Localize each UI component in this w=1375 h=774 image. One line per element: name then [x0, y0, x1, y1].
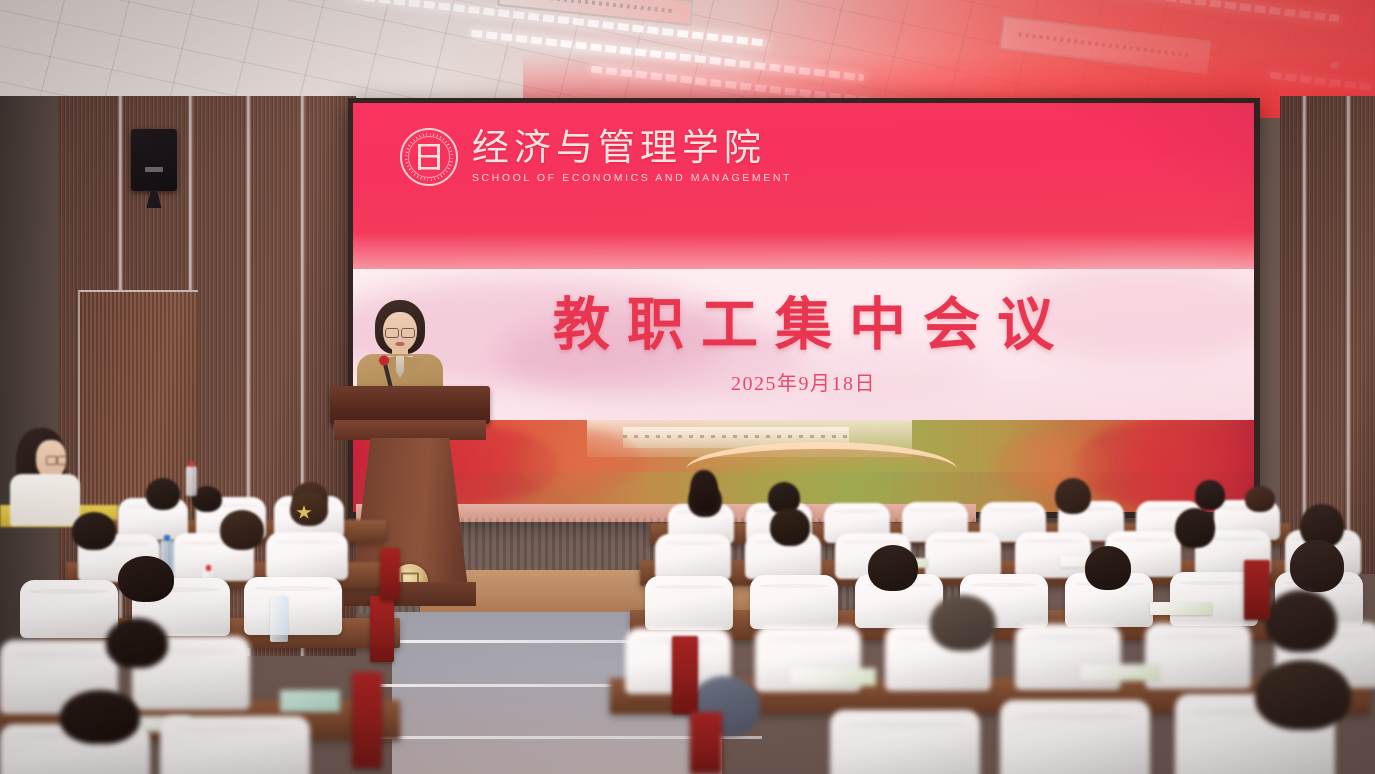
chair-seat: [925, 532, 1001, 578]
desk-document: [790, 668, 876, 686]
podium-top: [330, 386, 490, 424]
screen-main-title: 教职工集中会议: [353, 279, 1254, 361]
campus-tree: [993, 433, 1110, 494]
attendee-head: [72, 512, 116, 550]
attendee-head: [1255, 660, 1351, 730]
school-name-chinese: 经济与管理学院: [472, 130, 792, 167]
chair-seat: [1015, 532, 1091, 578]
attendee-head: [1195, 480, 1225, 510]
podium-lip: [334, 420, 486, 440]
attendee-glasses: [46, 456, 68, 463]
attendee-head: [1245, 486, 1275, 512]
attendee-head: [930, 595, 996, 651]
school-logo-lockup: 经济与管理学院 SCHOOL OF ECONOMICS AND MANAGEME…: [400, 128, 792, 186]
chair-seat: [830, 710, 980, 774]
university-seal-icon: [400, 128, 458, 186]
desk-end-panel: [1244, 560, 1270, 620]
chair-seat: [750, 575, 838, 629]
left-wall-corner: [0, 96, 58, 656]
left-front-attendee: [8, 428, 86, 526]
chair-seat: [1145, 623, 1251, 689]
attendee-head: [118, 556, 174, 602]
chair-seat: [655, 534, 731, 580]
desk-document: [1080, 664, 1160, 681]
attendee-head: [60, 690, 140, 744]
attendee-top: [10, 474, 80, 526]
attendee-head: [1085, 546, 1131, 590]
desk-end-panel: [352, 672, 382, 768]
campus-tree: [515, 429, 641, 493]
attendee-head: [1055, 478, 1091, 514]
attendee-head: [1290, 540, 1344, 592]
speaker-glasses: [385, 328, 415, 336]
speaker-mouth: [396, 342, 405, 346]
attendee-head: [1175, 508, 1215, 548]
attendee-head: [106, 618, 168, 668]
chair-seat: [266, 532, 348, 580]
attendee-head: [868, 545, 918, 591]
chair-seat: [244, 577, 342, 635]
wall-mounted-loudspeaker: [131, 129, 177, 191]
desk-end-panel: [370, 596, 394, 662]
desk-end-panel: [690, 712, 722, 774]
water-bottle: [270, 596, 288, 642]
desk-document: [280, 690, 340, 712]
attendee-head: [770, 508, 810, 546]
conference-hall-photo: 经济与管理学院 SCHOOL OF ECONOMICS AND MANAGEME…: [0, 0, 1375, 774]
chair-seat: [645, 576, 733, 630]
desk-end-panel: [672, 636, 698, 714]
attendee-head: [690, 470, 718, 512]
desk-end-panel: [380, 548, 400, 600]
chair-seat: [20, 580, 118, 638]
desk-document: [1150, 602, 1212, 615]
attendee-head: [1265, 590, 1337, 652]
attendee-head: [146, 478, 180, 510]
right-wall-panel: [1280, 96, 1375, 574]
chair-seat: [1000, 700, 1150, 774]
attendee-head: [290, 492, 328, 526]
school-name-english: SCHOOL OF ECONOMICS AND MANAGEMENT: [472, 172, 792, 184]
attendee-head: [220, 510, 264, 550]
water-bottle: [186, 466, 197, 496]
chair-seat: [160, 716, 310, 774]
